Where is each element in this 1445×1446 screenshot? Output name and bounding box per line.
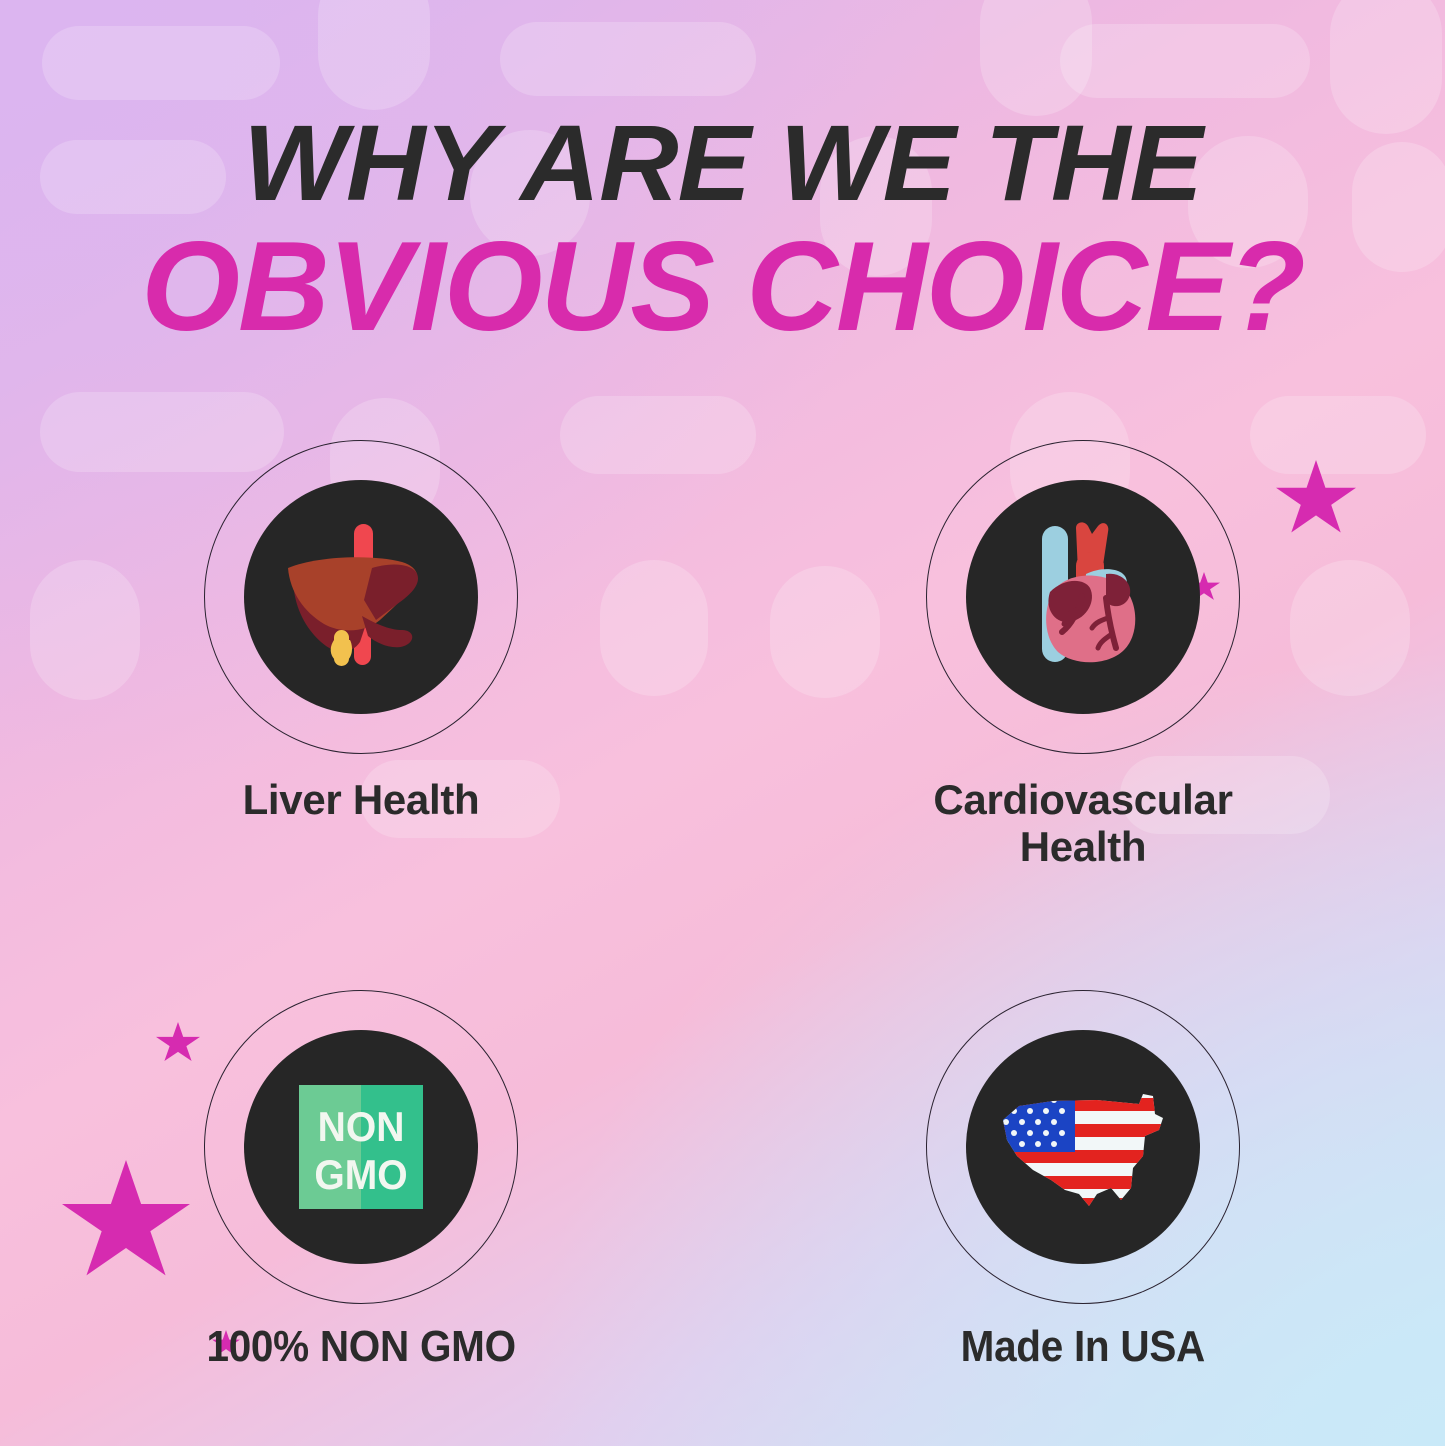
feature-item-cardiovascular-health[interactable]: Cardiovascular Health [722,440,1444,870]
non-gmo-badge-icon: NON GMO [299,1085,423,1209]
feature-label: Cardiovascular Health [933,776,1232,870]
icon-ring [204,440,518,754]
bg-pill [500,22,756,96]
icon-disc: NON GMO [244,1030,478,1264]
svg-text:GMO: GMO [314,1151,407,1199]
icon-ring [926,990,1240,1304]
heart-anatomical-icon [998,512,1168,682]
feature-item-non-gmo[interactable]: NON GMO 100% NON GMO [0,990,722,1371]
liver-icon [276,512,446,682]
feature-label: Liver Health [243,776,480,823]
svg-text:NON: NON [318,1103,405,1151]
feature-item-made-in-usa[interactable]: Made In USA [722,990,1444,1371]
icon-ring [926,440,1240,754]
icon-ring: NON GMO [204,990,518,1304]
title-line-1: WHY ARE WE THE [0,108,1445,218]
icon-disc [244,480,478,714]
feature-grid: Liver Health [0,440,1445,1371]
bg-pill [42,26,280,100]
feature-row-bottom: NON GMO 100% NON GMO [0,990,1445,1371]
title-line-2: OBVIOUS CHOICE? [0,222,1445,352]
bg-pill [318,0,430,110]
poster-canvas: WHY ARE WE THE OBVIOUS CHOICE? [0,0,1445,1446]
icon-disc [966,480,1200,714]
bg-pill [1060,24,1310,98]
page-title: WHY ARE WE THE OBVIOUS CHOICE? [0,108,1445,352]
icon-disc [966,1030,1200,1264]
feature-row-top: Liver Health [0,440,1445,870]
feature-label-line-1: Cardiovascular [933,776,1232,823]
feature-item-liver-health[interactable]: Liver Health [0,440,722,870]
bg-pill [980,0,1092,116]
feature-label: Made In USA [961,1322,1205,1371]
feature-label: 100% NON GMO [206,1322,515,1371]
feature-label-line-2: Health [933,823,1232,870]
usa-map-flag-icon [993,1084,1173,1210]
